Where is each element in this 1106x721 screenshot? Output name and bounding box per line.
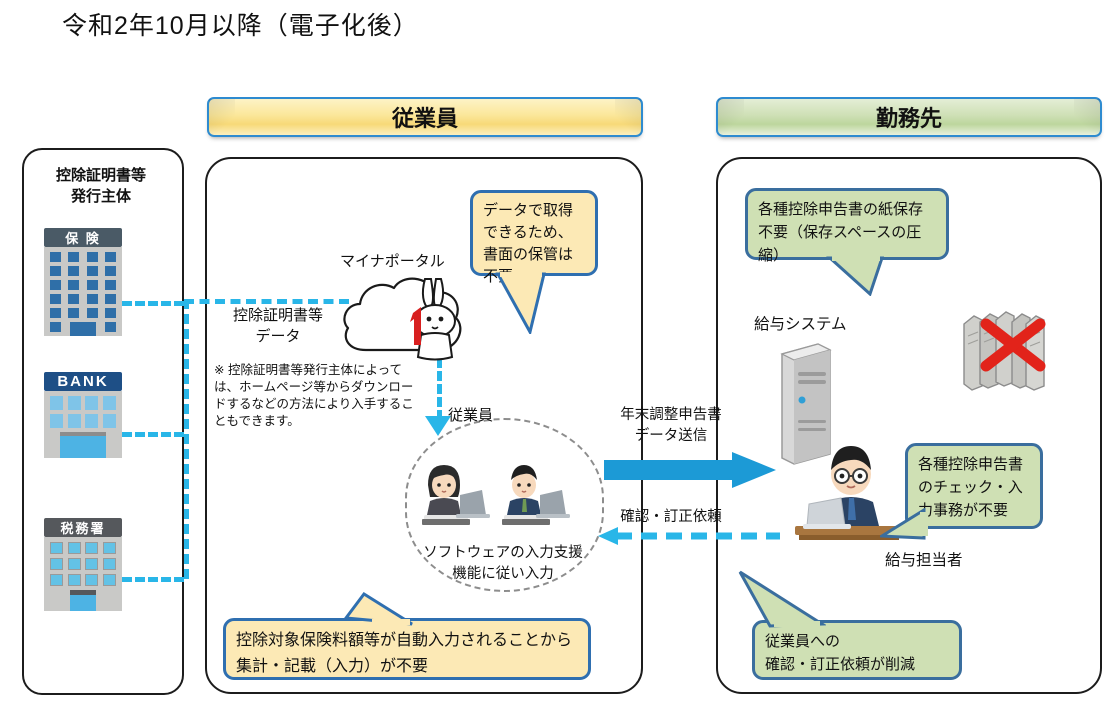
bank-building-sign: BANK <box>44 372 122 391</box>
issuer-note-text: ※ 控除証明書等発行主体によっては、ホームページ等からダウンロードするなどの方法… <box>214 362 422 430</box>
connector-insurance <box>122 301 184 306</box>
employee-female-with-laptop-icon <box>418 455 496 529</box>
paper-files-crossed-out-icon <box>960 310 1046 392</box>
issuers-title-line2: 発行主体 <box>22 186 180 207</box>
employee-label: 従業員 <box>448 404 493 425</box>
callout-less-requests: 従業員への 確認・訂正依頼が削減 <box>752 620 962 680</box>
column-header-employer-label: 勤務先 <box>876 101 942 133</box>
callout-less-requests-tail <box>730 570 826 628</box>
callout-no-paper-keep-tail <box>494 272 548 334</box>
arrow-confirm-request <box>598 527 780 545</box>
column-header-employer: 勤務先 <box>716 97 1102 137</box>
portal-label: マイナポータル <box>340 250 445 271</box>
insurance-building-sign: 保 険 <box>44 228 122 247</box>
callout-auto-input: 控除対象保険料額等が自動入力されることから集計・記載（入力）が不要 <box>223 618 591 680</box>
insurance-building-icon: 保 険 <box>44 228 122 340</box>
connector-to-portal <box>184 299 349 304</box>
payroll-staff-label: 給与担当者 <box>885 548 963 570</box>
callout-no-paper-store: 各種控除申告書の紙保存不要（保存スペースの圧縮） <box>745 188 949 260</box>
employee-caption-line1: ソフトウェアの入力支援 <box>408 543 598 564</box>
callout-auto-input-tail <box>342 592 418 626</box>
callout-no-paper-keep: データで取得できるため、書面の保管は不要 <box>470 190 598 276</box>
column-header-employee-label: 従業員 <box>392 101 458 133</box>
deduction-data-label-line1: 控除証明書等 <box>218 305 338 326</box>
arrow-send-data <box>604 452 776 488</box>
insurance-building-body <box>44 247 122 336</box>
confirm-request-label: 確認・訂正依頼 <box>607 505 735 526</box>
page-title: 令和2年10月以降（電子化後） <box>62 6 419 42</box>
employee-male-with-laptop-icon <box>498 455 576 529</box>
connector-bus-vertical <box>184 299 189 579</box>
payroll-system-label: 給与システム <box>754 312 847 334</box>
employee-caption-line2: 機能に従い入力 <box>408 564 598 585</box>
issuers-title: 控除証明書等 発行主体 <box>22 165 180 207</box>
issuers-title-line1: 控除証明書等 <box>22 165 180 186</box>
bank-building-body <box>44 391 122 458</box>
tax-office-building-sign: 税務署 <box>44 518 122 537</box>
connector-bank <box>122 432 184 437</box>
employee-caption: ソフトウェアの入力支援 機能に従い入力 <box>408 543 598 585</box>
deduction-data-label-line2: データ <box>218 326 338 347</box>
tax-office-building-body <box>44 537 122 611</box>
data-send-label: 年末調整申告書 データ送信 <box>607 405 735 447</box>
callout-no-check-work-tail <box>880 508 928 542</box>
callout-no-paper-store-tail <box>826 256 888 296</box>
data-send-label-line2: データ送信 <box>607 426 735 447</box>
data-send-label-line1: 年末調整申告書 <box>607 405 735 426</box>
deduction-data-label: 控除証明書等 データ <box>218 305 338 347</box>
bank-building-icon: BANK <box>44 372 122 458</box>
tax-office-building-icon: 税務署 <box>44 518 122 611</box>
connector-tax <box>122 577 184 582</box>
connector-portal-to-employee <box>437 358 442 420</box>
mynaportal-rabbit-mascot-icon <box>405 275 465 365</box>
column-header-employee: 従業員 <box>207 97 643 137</box>
